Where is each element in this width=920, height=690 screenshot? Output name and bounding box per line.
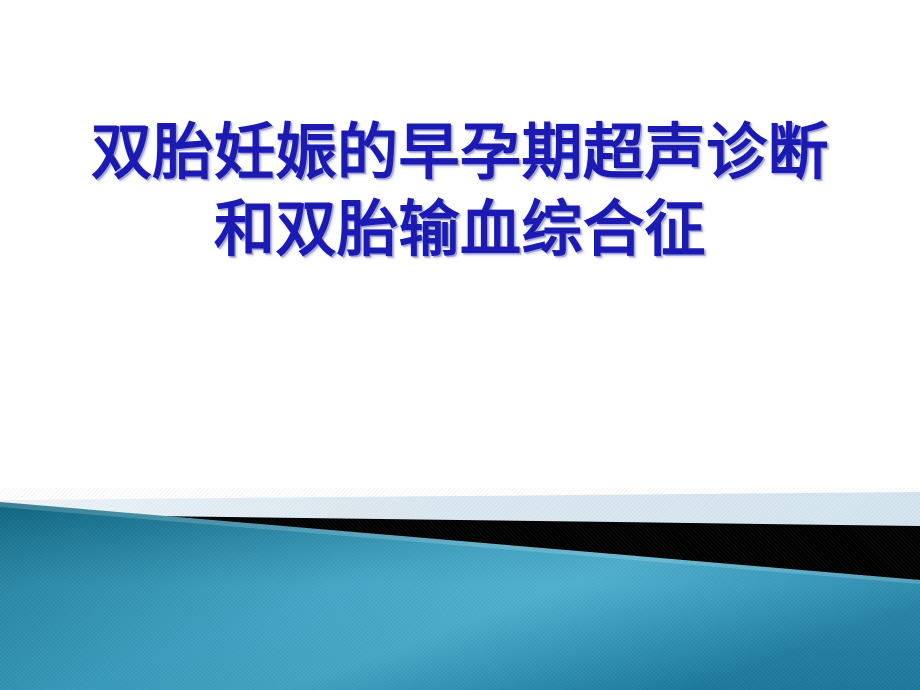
slide-title: 双胎妊娠的早孕期超声诊断 和双胎输血综合征: [0, 118, 920, 266]
slide-canvas: 双胎妊娠的早孕期超声诊断 和双胎输血综合征: [0, 0, 920, 690]
title-line-2: 和双胎输血综合征: [0, 195, 920, 266]
banner-shapes: [0, 488, 920, 690]
bottom-banner-decoration: [0, 488, 920, 690]
title-line-1: 双胎妊娠的早孕期超声诊断: [0, 118, 920, 189]
